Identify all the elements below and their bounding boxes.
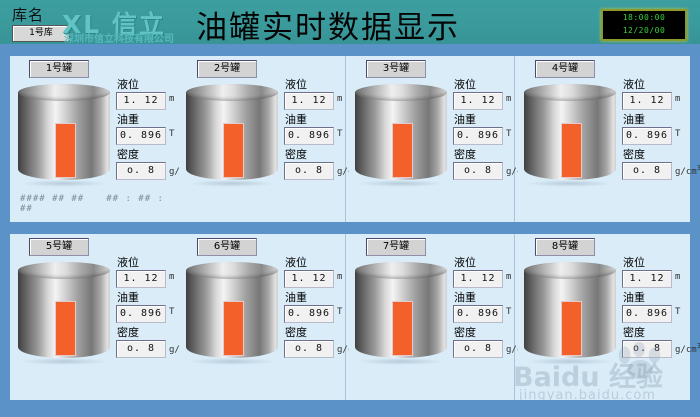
level-value[interactable]: 1. 12: [622, 92, 672, 110]
level-unit: m: [506, 94, 511, 104]
weight-unit: T: [675, 129, 680, 139]
level-value[interactable]: 1. 12: [116, 92, 166, 110]
weight-value[interactable]: 0. 896: [284, 305, 334, 323]
panel-divider: [345, 56, 346, 222]
tank-shadow: [357, 358, 445, 365]
level-label: 液位: [454, 78, 513, 91]
tank-level-indicator: [55, 301, 76, 356]
level-unit: m: [169, 272, 174, 282]
density-value[interactable]: o. 8: [622, 340, 672, 358]
tank-readouts: 液位1. 12m油重0. 896T密度o. 8g/cm3: [116, 78, 176, 183]
tank-top-cap-icon: [355, 84, 447, 101]
record-timestamp: #### ## #### : ## : ##: [20, 194, 175, 208]
weight-label: 油重: [623, 113, 682, 126]
record-date: #### ## ##: [20, 194, 84, 204]
tank-panel: 7号罐液位1. 12m油重0. 896T密度o. 8g/cm3: [349, 234, 514, 400]
tank-level-indicator: [55, 123, 76, 178]
tank-level-indicator: [223, 301, 244, 356]
panel-divider: [514, 56, 515, 222]
tank-top-cap-icon: [524, 84, 616, 101]
weight-value[interactable]: 0. 896: [284, 127, 334, 145]
header-divider-band: [0, 44, 700, 56]
scada-tank-monitor-screen: 库名 1号库 XL 信立 深圳市信立科技有限公司 油罐实时数据显示 18:00:…: [0, 0, 700, 417]
density-label: 密度: [454, 326, 513, 339]
density-label: 密度: [623, 326, 682, 339]
tank-panel: 5号罐液位1. 12m油重0. 896T密度o. 8g/cm3: [12, 234, 177, 400]
row-divider-band: [0, 222, 700, 234]
density-value[interactable]: o. 8: [453, 340, 503, 358]
tank-readouts: 液位1. 12m油重0. 896T密度o. 8g/cm3: [622, 78, 682, 183]
clock-time: 18:00:00: [603, 11, 685, 24]
tank-top-cap-icon: [524, 262, 616, 279]
weight-unit: T: [506, 307, 511, 317]
tank-panel: 3号罐液位1. 12m油重0. 896T密度o. 8g/cm3: [349, 56, 514, 222]
density-label: 密度: [454, 148, 513, 161]
tank-graphic: [18, 262, 110, 362]
tank-name-tag[interactable]: 5号罐: [29, 238, 89, 256]
tank-row-bottom: 5号罐液位1. 12m油重0. 896T密度o. 8g/cm36号罐液位1. 1…: [0, 234, 700, 400]
tank-level-indicator: [561, 301, 582, 356]
tank-shadow: [357, 180, 445, 187]
tank-name-tag[interactable]: 1号罐: [29, 60, 89, 78]
tank-level-indicator: [561, 123, 582, 178]
density-label: 密度: [623, 148, 682, 161]
tank-level-indicator: [392, 123, 413, 178]
level-value[interactable]: 1. 12: [284, 270, 334, 288]
weight-label: 油重: [117, 291, 176, 304]
tank-graphic: [355, 262, 447, 362]
density-value[interactable]: o. 8: [116, 162, 166, 180]
weight-unit: T: [337, 129, 342, 139]
tank-panel: 6号罐液位1. 12m油重0. 896T密度o. 8g/cm3: [180, 234, 345, 400]
level-unit: m: [169, 94, 174, 104]
level-label: 液位: [285, 78, 344, 91]
tank-name-tag[interactable]: 6号罐: [197, 238, 257, 256]
tank-graphic: [355, 84, 447, 184]
board-bottom-band: [0, 400, 700, 417]
weight-value[interactable]: 0. 896: [622, 305, 672, 323]
density-label: 密度: [285, 326, 344, 339]
clock-date: 12/20/00: [603, 24, 685, 37]
tank-level-indicator: [223, 123, 244, 178]
weight-label: 油重: [454, 113, 513, 126]
weight-label: 油重: [117, 113, 176, 126]
tank-readouts: 液位1. 12m油重0. 896T密度o. 8g/cm3: [453, 256, 513, 361]
tank-top-cap-icon: [186, 262, 278, 279]
level-label: 液位: [623, 78, 682, 91]
level-label: 液位: [117, 256, 176, 269]
tank-shadow: [188, 180, 276, 187]
tank-name-tag[interactable]: 3号罐: [366, 60, 426, 78]
weight-label: 油重: [623, 291, 682, 304]
tank-top-cap-icon: [355, 262, 447, 279]
tank-panel: 1号罐液位1. 12m油重0. 896T密度o. 8g/cm3#### ## #…: [12, 56, 177, 222]
tank-top-cap-icon: [18, 262, 110, 279]
tank-shadow: [526, 358, 614, 365]
tank-shadow: [188, 358, 276, 365]
level-unit: m: [675, 272, 680, 282]
level-label: 液位: [623, 256, 682, 269]
tank-readouts: 液位1. 12m油重0. 896T密度o. 8g/cm3: [284, 78, 344, 183]
level-unit: m: [337, 94, 342, 104]
tank-board: 1号罐液位1. 12m油重0. 896T密度o. 8g/cm3#### ## #…: [0, 56, 700, 417]
panel-divider: [514, 234, 515, 400]
tank-shadow: [526, 180, 614, 187]
level-label: 液位: [285, 256, 344, 269]
weight-label: 油重: [285, 113, 344, 126]
tank-shadow: [20, 180, 108, 187]
level-value[interactable]: 1. 12: [622, 270, 672, 288]
weight-unit: T: [675, 307, 680, 317]
level-label: 液位: [117, 78, 176, 91]
tank-graphic: [186, 84, 278, 184]
tank-graphic: [524, 84, 616, 184]
weight-label: 油重: [285, 291, 344, 304]
weight-value[interactable]: 0. 896: [116, 305, 166, 323]
tank-name-tag[interactable]: 8号罐: [535, 238, 595, 256]
density-label: 密度: [117, 148, 176, 161]
tank-name-tag[interactable]: 7号罐: [366, 238, 426, 256]
weight-value[interactable]: 0. 896: [453, 127, 503, 145]
level-label: 液位: [454, 256, 513, 269]
level-value[interactable]: 1. 12: [453, 270, 503, 288]
tank-graphic: [18, 84, 110, 184]
weight-unit: T: [337, 307, 342, 317]
tank-readouts: 液位1. 12m油重0. 896T密度o. 8g/cm3: [622, 256, 682, 361]
density-label: 密度: [117, 326, 176, 339]
level-unit: m: [675, 94, 680, 104]
density-unit: g/cm3: [675, 342, 700, 355]
weight-unit: T: [169, 307, 174, 317]
density-value[interactable]: o. 8: [284, 162, 334, 180]
density-value[interactable]: o. 8: [453, 162, 503, 180]
tank-graphic: [186, 262, 278, 362]
tank-name-tag[interactable]: 2号罐: [197, 60, 257, 78]
tank-row-top: 1号罐液位1. 12m油重0. 896T密度o. 8g/cm3#### ## #…: [0, 56, 700, 222]
tank-graphic: [524, 262, 616, 362]
weight-label: 油重: [454, 291, 513, 304]
weight-value[interactable]: 0. 896: [622, 127, 672, 145]
density-value[interactable]: o. 8: [622, 162, 672, 180]
density-value[interactable]: o. 8: [116, 340, 166, 358]
tank-name-tag[interactable]: 4号罐: [535, 60, 595, 78]
led-clock-display: 18:00:00 12/20/00: [601, 9, 687, 41]
tank-top-cap-icon: [186, 84, 278, 101]
tank-panel: 8号罐液位1. 12m油重0. 896T密度o. 8g/cm3: [518, 234, 683, 400]
tank-panel: 4号罐液位1. 12m油重0. 896T密度o. 8g/cm3: [518, 56, 683, 222]
tank-top-cap-icon: [18, 84, 110, 101]
page-title: 油罐实时数据显示: [196, 2, 460, 47]
library-name-label: 库名: [12, 4, 44, 25]
level-value[interactable]: 1. 12: [284, 92, 334, 110]
tank-shadow: [20, 358, 108, 365]
level-value[interactable]: 1. 12: [116, 270, 166, 288]
level-unit: m: [337, 272, 342, 282]
density-unit: g/cm3: [675, 164, 700, 177]
weight-unit: T: [169, 129, 174, 139]
density-value[interactable]: o. 8: [284, 340, 334, 358]
level-value[interactable]: 1. 12: [453, 92, 503, 110]
weight-value[interactable]: 0. 896: [116, 127, 166, 145]
level-unit: m: [506, 272, 511, 282]
company-name-subtitle: 深圳市信立科技有限公司: [64, 30, 174, 45]
tank-panel: 2号罐液位1. 12m油重0. 896T密度o. 8g/cm3: [180, 56, 345, 222]
tank-readouts: 液位1. 12m油重0. 896T密度o. 8g/cm3: [116, 256, 176, 361]
panel-divider: [345, 234, 346, 400]
weight-value[interactable]: 0. 896: [453, 305, 503, 323]
tank-level-indicator: [392, 301, 413, 356]
tank-readouts: 液位1. 12m油重0. 896T密度o. 8g/cm3: [453, 78, 513, 183]
density-label: 密度: [285, 148, 344, 161]
app-header: 库名 1号库 XL 信立 深圳市信立科技有限公司 油罐实时数据显示 18:00:…: [0, 0, 700, 44]
tank-readouts: 液位1. 12m油重0. 896T密度o. 8g/cm3: [284, 256, 344, 361]
weight-unit: T: [506, 129, 511, 139]
